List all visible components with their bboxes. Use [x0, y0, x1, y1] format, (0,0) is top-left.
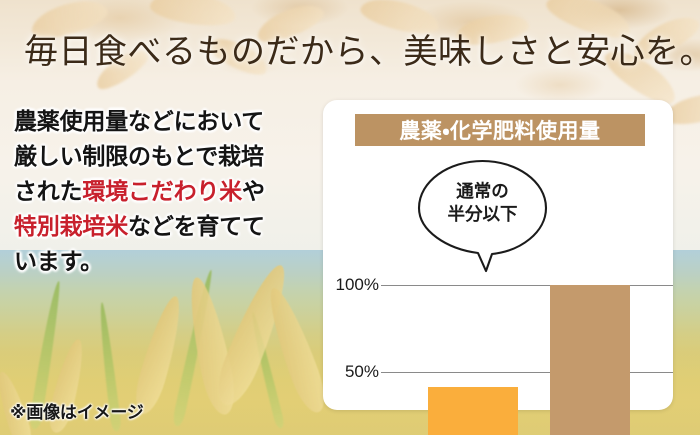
body-line-5: います。 — [14, 244, 320, 279]
body-line-4: 特別栽培米などを育てて — [14, 209, 320, 244]
ytick-label-50: 50% — [345, 362, 379, 382]
chart-card: 農薬・化学肥料使用量 100% 50% 0 環境こだわり米 特別栽培米 通常の … — [323, 100, 673, 410]
image-disclaimer-note: ※画像はイメージ — [10, 398, 144, 423]
ytick-label-100: 100% — [336, 275, 379, 295]
chart-plot-area: 100% 50% 0 環境こだわり米 特別栽培米 通常の 慣行栽培 — [323, 152, 673, 410]
chart-title-banner: 農薬・化学肥料使用量 — [355, 114, 645, 146]
body-line-3-post: や — [242, 178, 265, 204]
body-line-1: 農薬使用量などにおいて — [14, 104, 320, 139]
body-copy: 農薬使用量などにおいて 厳しい制限のもとで栽培 された環境こだわり米や 特別栽培… — [14, 104, 320, 279]
callout-line-2: 半分以下 — [416, 203, 549, 226]
body-line-3: された環境こだわり米や — [14, 174, 320, 209]
bar-kodawari-rice — [428, 387, 518, 435]
body-line-2: 厳しい制限のもとで栽培 — [14, 139, 320, 174]
callout-line-1: 通常の — [416, 180, 549, 203]
poster-root: 毎日食べるものだから、美味しさと安心を。 農薬使用量などにおいて 厳しい制限のも… — [0, 0, 700, 435]
body-line-3-pre: された — [14, 178, 82, 204]
bar-conventional-rice — [550, 285, 630, 435]
highlight-kodawari-rice: 環境こだわり米 — [82, 178, 242, 204]
callout-annotation: 通常の 半分以下 — [416, 158, 549, 274]
callout-text: 通常の 半分以下 — [416, 180, 549, 226]
page-title: 毎日食べるものだから、美味しさと安心を。 — [24, 34, 684, 71]
highlight-tokubetsu-rice: 特別栽培米 — [14, 213, 128, 239]
body-line-4-post: などを育てて — [128, 213, 265, 239]
